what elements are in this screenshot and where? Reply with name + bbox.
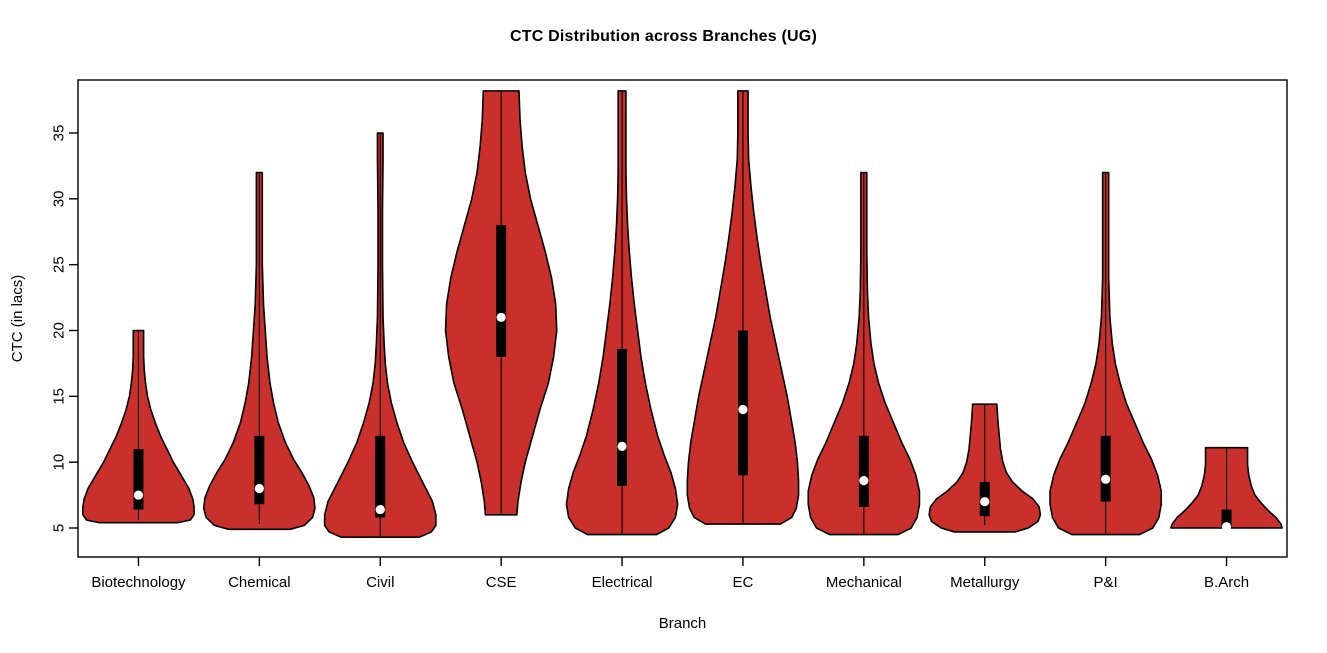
violin-median-point — [738, 405, 747, 414]
violin-series-group — [83, 91, 1282, 537]
violin-median-point — [980, 497, 989, 506]
y-tick-label: 15 — [51, 388, 68, 405]
violin-median-point — [1101, 475, 1110, 484]
violin-iqr-box — [133, 449, 143, 510]
x-tick-label-chemical: Chemical — [228, 574, 291, 591]
y-axis: 5101520253035 — [51, 125, 79, 533]
x-tick-label-cse: CSE — [486, 574, 517, 591]
violin-chemical — [204, 173, 315, 530]
x-axis-title: Branch — [659, 615, 707, 632]
y-tick-label: 20 — [51, 322, 68, 339]
x-tick-label-biotechnology: Biotechnology — [91, 574, 186, 591]
violin-iqr-box — [254, 436, 264, 504]
x-tick-label-metallurgy: Metallurgy — [950, 574, 1020, 591]
x-tick-label-civil: Civil — [366, 574, 394, 591]
y-axis-title: CTC (in lacs) — [9, 275, 26, 363]
violin-iqr-box — [1101, 436, 1111, 502]
violin-iqr-box — [859, 436, 869, 507]
violin-iqr-box — [738, 331, 748, 476]
x-tick-label-b-arch: B.Arch — [1204, 574, 1249, 591]
violin-median-point — [617, 442, 626, 451]
x-tick-label-mechanical: Mechanical — [826, 574, 902, 591]
violin-mechanical — [808, 173, 919, 535]
violin-civil — [325, 133, 436, 537]
violin-biotechnology — [83, 331, 194, 523]
violin-b-arch — [1171, 448, 1282, 532]
violin-p-i — [1050, 173, 1161, 535]
violin-median-point — [255, 484, 264, 493]
y-tick-label: 10 — [51, 454, 68, 471]
plot-canvas: 5101520253035 BiotechnologyChemicalCivil… — [0, 0, 1327, 653]
violin-median-point — [376, 505, 385, 514]
x-axis: BiotechnologyChemicalCivilCSEElectricalE… — [91, 557, 1249, 591]
y-tick-label: 25 — [51, 256, 68, 273]
y-tick-label: 5 — [51, 524, 68, 532]
violin-ec — [687, 91, 798, 524]
x-tick-label-ec: EC — [733, 574, 754, 591]
violin-iqr-box — [496, 225, 506, 357]
y-tick-label: 35 — [51, 125, 68, 142]
violin-median-point — [497, 313, 506, 322]
violin-metallurgy — [929, 404, 1040, 532]
violin-iqr-box — [617, 349, 627, 486]
violin-median-point — [134, 490, 143, 499]
violin-electrical — [566, 91, 677, 535]
y-tick-label: 30 — [51, 190, 68, 207]
violin-median-point — [859, 476, 868, 485]
violin-cse — [446, 91, 557, 515]
violin-median-point — [1222, 522, 1231, 531]
violin-plot-figure: CTC Distribution across Branches (UG) 51… — [0, 0, 1327, 653]
x-tick-label-p-i: P&I — [1094, 574, 1118, 591]
x-tick-label-electrical: Electrical — [592, 574, 653, 591]
